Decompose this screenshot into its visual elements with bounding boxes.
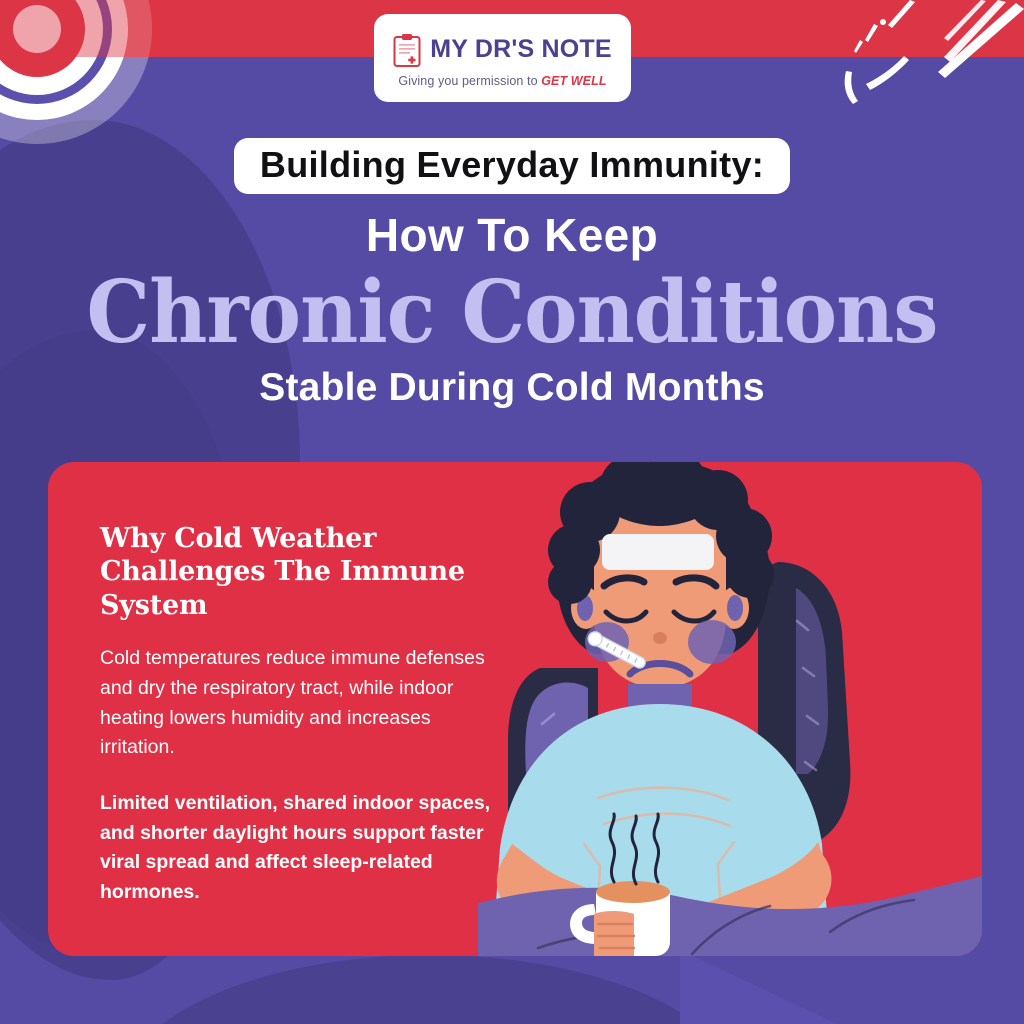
clipboard-medical-icon <box>393 33 421 67</box>
bottom-purple-triangle <box>680 950 850 1024</box>
logo-title: MY DR'S NOTE <box>430 37 612 62</box>
card-heading: Why Cold Weather Challenges The Immune S… <box>100 522 500 622</box>
logo-tagline: Giving you permission to GET WELL <box>398 74 606 88</box>
title-line-3: Stable During Cold Months <box>0 366 1024 410</box>
title-line-2: Chronic Conditions <box>36 262 988 363</box>
logo-tagline-accent: GET WELL <box>541 74 606 88</box>
title-line-1: How To Keep <box>0 208 1024 262</box>
kicker-badge: Building Everyday Immunity: <box>234 138 790 194</box>
infographic-poster: MY DR'S NOTE Giving you permission to GE… <box>0 0 1024 1024</box>
logo-tagline-prefix: Giving you permission to <box>398 74 541 88</box>
card-paragraph-2: Limited ventilation, shared indoor space… <box>100 789 500 908</box>
white-brush-strokes-decoration <box>830 0 1024 140</box>
rings-red-tint <box>0 0 152 57</box>
sick-person-in-bed-illustration <box>478 462 982 956</box>
content-card: Why Cold Weather Challenges The Immune S… <box>48 462 982 956</box>
card-paragraph-1: Cold temperatures reduce immune defenses… <box>100 644 500 763</box>
brand-logo[interactable]: MY DR'S NOTE Giving you permission to GE… <box>374 14 631 102</box>
card-text-block: Why Cold Weather Challenges The Immune S… <box>100 522 500 933</box>
